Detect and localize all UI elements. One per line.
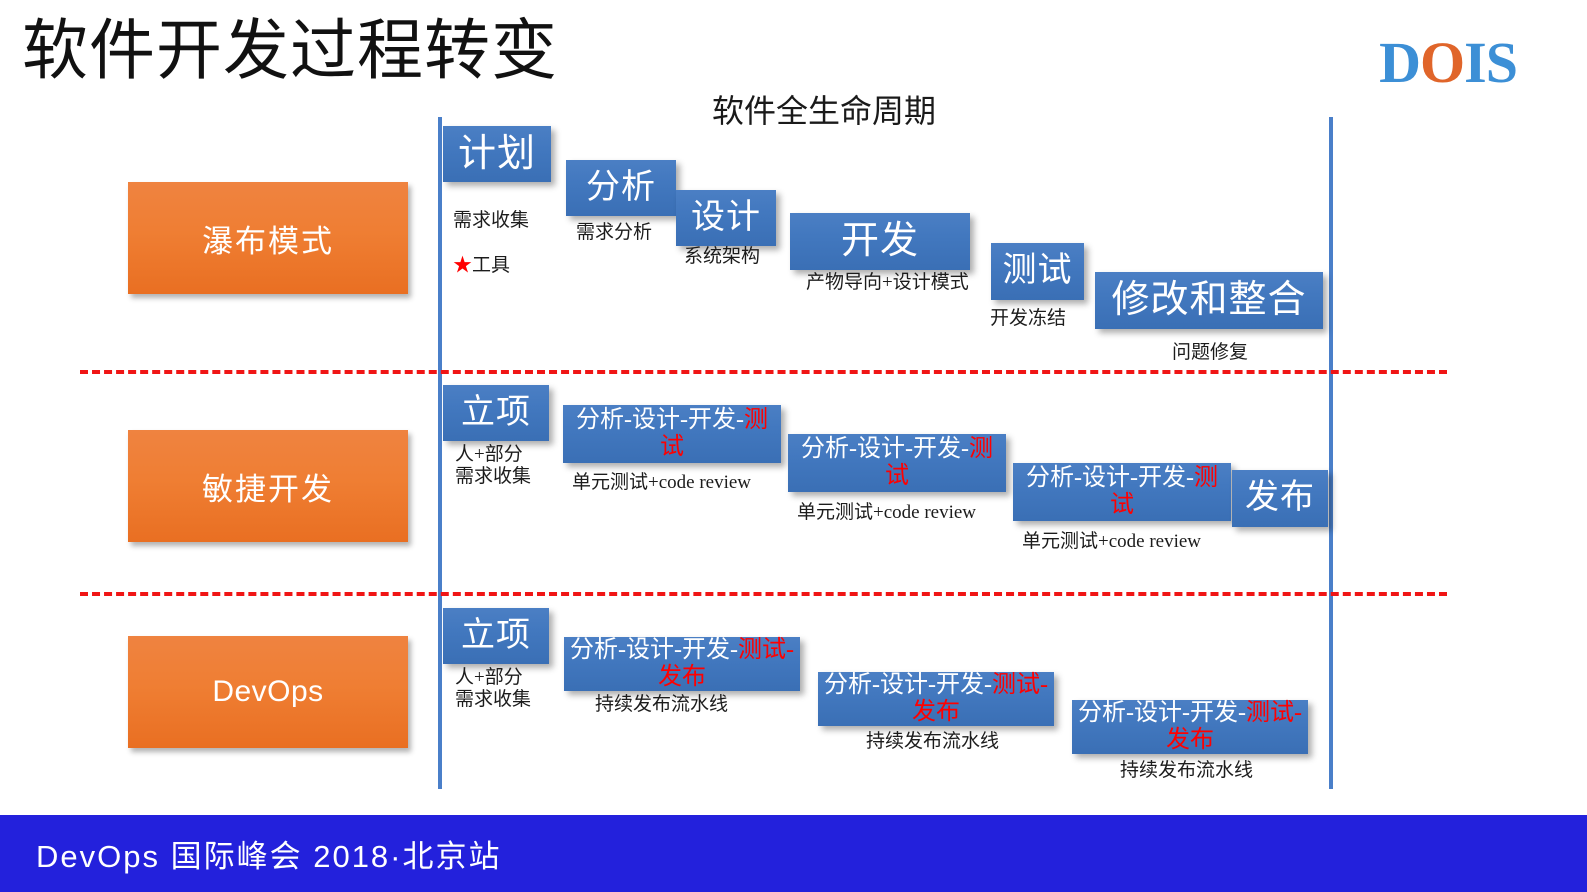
stage-label: 分析-设计-开发-测试-发布 <box>1078 700 1302 754</box>
mode-label-text: DevOps <box>212 675 323 709</box>
mode-label-waterfall: 瀑布模式 <box>128 182 408 294</box>
stage-box-plan: 计划 <box>443 126 551 182</box>
stage-box-agile-iteration-2: 分析-设计-开发-测试 <box>788 434 1006 492</box>
stage-caption-devops-pipeline-1: 持续发布流水线 <box>595 694 728 716</box>
logo-letter-d: D <box>1379 30 1420 95</box>
stage-box-devops-pipeline-1: 分析-设计-开发-测试-发布 <box>564 637 800 691</box>
stage-box-devops-pipeline-2: 分析-设计-开发-测试-发布 <box>818 672 1054 726</box>
caption-line-2: 工具 <box>472 255 510 276</box>
diagram-subtitle: 软件全生命周期 <box>712 86 936 132</box>
slide-canvas: 软件开发过程转变 DOIS 软件全生命周期 瀑布模式 敏捷开发 DevOps 计… <box>0 0 1587 892</box>
stage-label: 分析-设计-开发-测试-发布 <box>570 637 794 691</box>
stage-label: 立项 <box>461 617 531 655</box>
stage-label-black: 分析-设计-开发- <box>801 436 969 462</box>
timeline-start-line <box>438 117 442 789</box>
stage-box-agile-kickoff: 立项 <box>443 385 549 441</box>
logo-letter-o: O <box>1420 30 1464 95</box>
stage-label: 设计 <box>691 199 761 237</box>
row-divider-2 <box>80 592 1447 596</box>
stage-caption-agile-kickoff: 人+部分 需求收集 <box>455 444 531 489</box>
footer-text: DevOps 国际峰会 2018·北京站 <box>36 831 502 876</box>
stage-caption-devops-pipeline-2: 持续发布流水线 <box>866 731 999 753</box>
stage-box-analysis: 分析 <box>566 160 676 216</box>
timeline-end-line <box>1329 117 1333 789</box>
mode-label-devops: DevOps <box>128 636 408 748</box>
page-title: 软件开发过程转变 <box>22 14 558 87</box>
stage-label-black: 分析-设计-开发- <box>570 637 738 663</box>
stage-label: 计划 <box>458 133 536 176</box>
stage-label: 立项 <box>461 394 531 432</box>
stage-caption-analysis: 需求分析 <box>576 222 652 244</box>
stage-caption-devops-kickoff: 人+部分 需求收集 <box>455 667 531 712</box>
stage-box-design: 设计 <box>676 190 776 246</box>
stage-box-agile-iteration-3: 分析-设计-开发-测试 <box>1013 463 1231 521</box>
stage-caption-agile-iteration-2: 单元测试+code review <box>797 502 976 524</box>
stage-caption-design: 系统架构 <box>684 246 760 268</box>
logo-letter-is: IS <box>1464 30 1517 95</box>
stage-box-fix-integrate: 修改和整合 <box>1095 272 1323 329</box>
mode-label-agile: 敏捷开发 <box>128 430 408 542</box>
stage-caption-develop: 产物导向+设计模式 <box>806 272 969 294</box>
stage-label-black: 分析-设计-开发- <box>1078 700 1246 726</box>
stage-caption-plan: 需求收集 ★工具 <box>453 188 529 278</box>
footer-bar: DevOps 国际峰会 2018·北京站 <box>0 815 1587 892</box>
mode-label-text: 敏捷开发 <box>202 464 334 509</box>
stage-label-black: 分析-设计-开发- <box>576 407 744 433</box>
stage-box-develop: 开发 <box>790 213 970 270</box>
stage-label: 分析 <box>586 169 656 207</box>
stage-label: 发布 <box>1245 479 1315 517</box>
stage-label: 分析-设计-开发-测试-发布 <box>824 672 1048 726</box>
mode-label-text: 瀑布模式 <box>202 216 334 261</box>
row-divider-1 <box>80 370 1447 374</box>
stage-caption-devops-pipeline-3: 持续发布流水线 <box>1120 760 1253 782</box>
stage-label-black: 分析-设计-开发- <box>824 672 992 698</box>
stage-label: 分析-设计-开发-测试 <box>1019 465 1225 519</box>
stage-box-devops-kickoff: 立项 <box>443 608 549 664</box>
stage-label: 开发 <box>841 220 919 263</box>
stage-box-agile-iteration-1: 分析-设计-开发-测试 <box>563 405 781 463</box>
stage-caption-fix-integrate: 问题修复 <box>1172 342 1248 364</box>
stage-label-black: 分析-设计-开发- <box>1026 465 1194 491</box>
stage-label: 测试 <box>1003 252 1073 290</box>
stage-label: 分析-设计-开发-测试 <box>569 407 775 461</box>
stage-caption-agile-iteration-1: 单元测试+code review <box>572 472 751 494</box>
caption-line-1: 需求收集 <box>453 210 529 231</box>
star-icon: ★ <box>453 255 472 276</box>
stage-label: 分析-设计-开发-测试 <box>794 436 1000 490</box>
stage-label: 修改和整合 <box>1111 279 1306 322</box>
stage-box-test: 测试 <box>991 243 1084 300</box>
stage-box-devops-pipeline-3: 分析-设计-开发-测试-发布 <box>1072 700 1308 754</box>
stage-caption-agile-iteration-3: 单元测试+code review <box>1022 531 1201 553</box>
stage-box-agile-release: 发布 <box>1232 470 1328 527</box>
stage-caption-test: 开发冻结 <box>990 308 1066 330</box>
dois-logo: DOIS <box>1379 34 1517 92</box>
